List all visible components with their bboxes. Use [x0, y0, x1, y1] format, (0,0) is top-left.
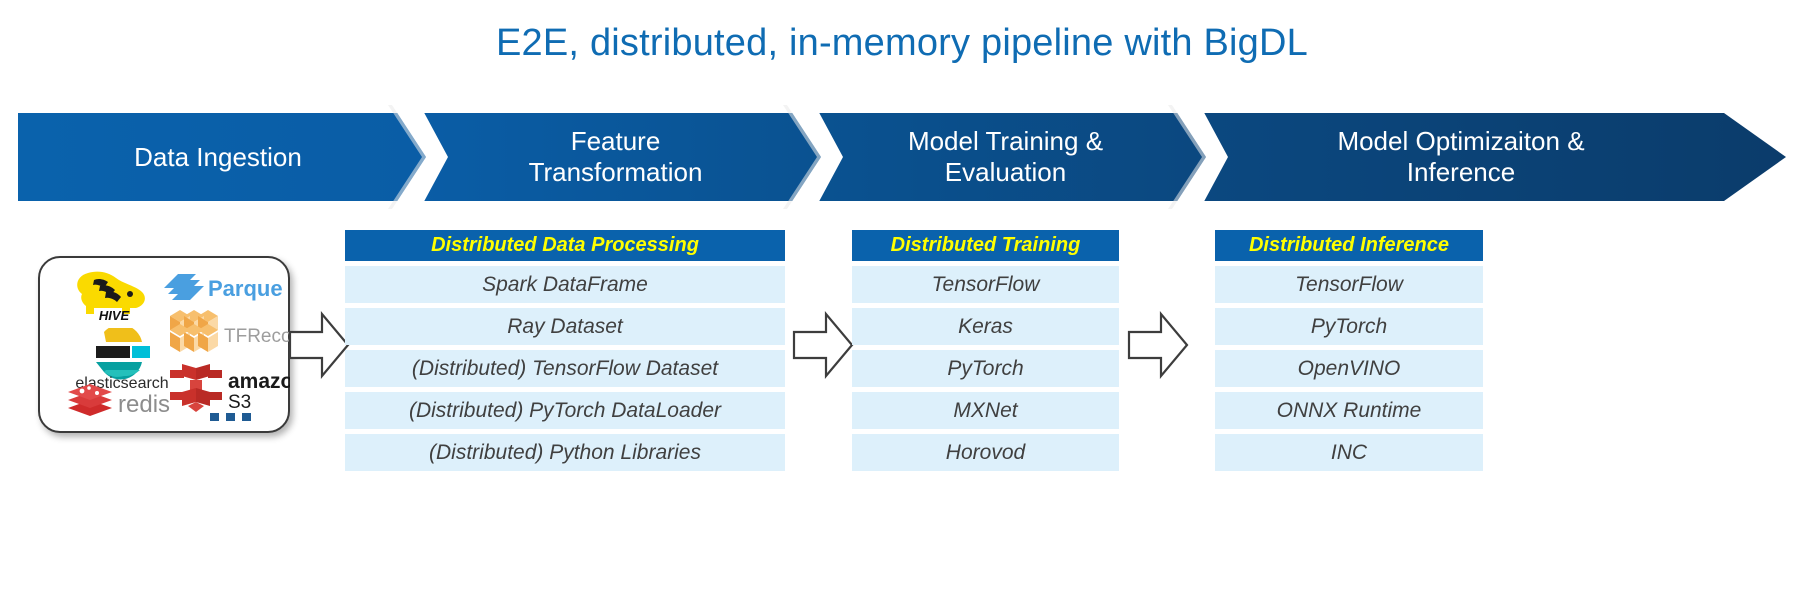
- svg-text:TFRecord: TFRecord: [224, 326, 297, 347]
- stage-label-line2: Evaluation: [813, 157, 1198, 188]
- flow-arrow-ingestion-to-processing: [288, 310, 350, 380]
- table-header: Distributed Data Processing: [345, 230, 785, 261]
- stage-label-line1: Feature: [418, 126, 813, 157]
- table-row[interactable]: ONNX Runtime: [1215, 392, 1483, 429]
- page-title: E2E, distributed, in-memory pipeline wit…: [0, 22, 1804, 65]
- table-row[interactable]: PyTorch: [852, 350, 1119, 387]
- distributed-training-table: Distributed Training TensorFlow Keras Py…: [852, 230, 1119, 471]
- pipeline-stage-banner: Data Ingestion Feature Transformation Mo…: [18, 113, 1786, 201]
- table-row[interactable]: OpenVINO: [1215, 350, 1483, 387]
- table-row[interactable]: TensorFlow: [1215, 266, 1483, 303]
- stage-model-optimization-inference[interactable]: Model Optimizaiton & Inference: [1198, 113, 1786, 201]
- stage-feature-transformation[interactable]: Feature Transformation: [418, 113, 813, 201]
- stage-model-training-evaluation[interactable]: Model Training & Evaluation: [813, 113, 1198, 201]
- data-source-card: HIVE Parquet elasticsearch: [38, 256, 290, 433]
- table-row[interactable]: TensorFlow: [852, 266, 1119, 303]
- more-sources-ellipsis: [208, 408, 258, 424]
- distributed-inference-table: Distributed Inference TensorFlow PyTorch…: [1215, 230, 1483, 471]
- table-row[interactable]: (Distributed) PyTorch DataLoader: [345, 392, 785, 429]
- stage-label-line1: Model Training &: [813, 126, 1198, 157]
- table-row[interactable]: (Distributed) TensorFlow Dataset: [345, 350, 785, 387]
- svg-text:redis: redis: [118, 391, 170, 418]
- flow-arrow-processing-to-training: [792, 310, 854, 380]
- stage-label-line2: Inference: [1198, 157, 1724, 188]
- stage-data-ingestion[interactable]: Data Ingestion: [18, 113, 418, 201]
- hive-logo: HIVE: [64, 264, 154, 322]
- table-header: Distributed Training: [852, 230, 1119, 261]
- stage-label-line2: Transformation: [418, 157, 813, 188]
- table-row[interactable]: Spark DataFrame: [345, 266, 785, 303]
- stage-label: Data Ingestion: [18, 142, 418, 173]
- redis-logo: redis: [64, 380, 182, 424]
- flow-arrow-training-to-inference: [1127, 310, 1189, 380]
- table-header: Distributed Inference: [1215, 230, 1483, 261]
- svg-text:HIVE: HIVE: [99, 308, 130, 322]
- table-row[interactable]: PyTorch: [1215, 308, 1483, 345]
- table-row[interactable]: (Distributed) Python Libraries: [345, 434, 785, 471]
- parquet-logo: Parquet: [162, 270, 282, 302]
- stage-label-line1: Model Optimizaiton &: [1198, 126, 1724, 157]
- distributed-data-processing-table: Distributed Data Processing Spark DataFr…: [345, 230, 785, 471]
- svg-text:amazon: amazon: [228, 370, 290, 393]
- table-row[interactable]: INC: [1215, 434, 1483, 471]
- svg-text:Parquet: Parquet: [208, 276, 282, 301]
- table-row[interactable]: Horovod: [852, 434, 1119, 471]
- table-row[interactable]: Ray Dataset: [345, 308, 785, 345]
- table-row[interactable]: MXNet: [852, 392, 1119, 429]
- tfrecord-logo: TFRecord: [162, 308, 297, 360]
- table-row[interactable]: Keras: [852, 308, 1119, 345]
